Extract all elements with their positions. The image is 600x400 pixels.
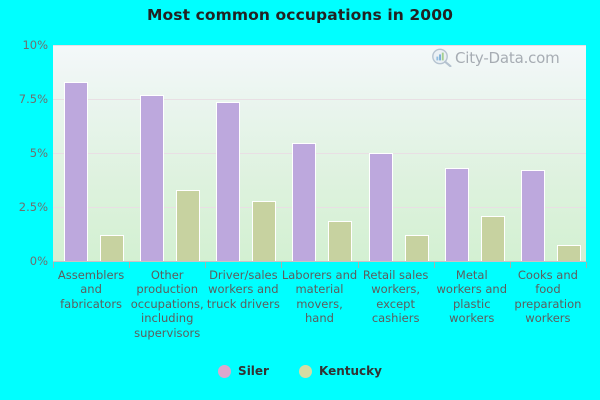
chart-title: Most common occupations in 2000 bbox=[0, 6, 600, 24]
bar-group bbox=[281, 45, 357, 261]
legend-label-kentucky: Kentucky bbox=[319, 364, 382, 378]
bar-group bbox=[53, 45, 129, 261]
legend-label-siler: Siler bbox=[238, 364, 269, 378]
bar-kentucky-5[interactable] bbox=[405, 235, 429, 261]
legend-swatch-siler bbox=[218, 365, 231, 378]
y-tick-label: 10% bbox=[1, 38, 48, 52]
x-axis-label: Driver/sales workers and truck drivers bbox=[205, 268, 281, 311]
x-axis-label: Laborers and material movers, hand bbox=[281, 268, 357, 326]
legend-item-siler[interactable]: Siler bbox=[218, 364, 269, 378]
y-tick-label: 2.5% bbox=[1, 200, 48, 214]
y-tick-label: 7.5% bbox=[1, 92, 48, 106]
bar-group bbox=[510, 45, 586, 261]
bar-kentucky-7[interactable] bbox=[557, 245, 581, 261]
bar-group bbox=[358, 45, 434, 261]
bar-kentucky-6[interactable] bbox=[481, 216, 505, 261]
y-axis: 0%2.5%5%7.5%10% bbox=[0, 0, 48, 400]
bar-siler-1[interactable] bbox=[64, 82, 88, 261]
bar-kentucky-3[interactable] bbox=[252, 201, 276, 261]
bar-kentucky-1[interactable] bbox=[100, 235, 124, 261]
bar-kentucky-2[interactable] bbox=[176, 190, 200, 261]
x-axis-label: Retail sales workers, except cashiers bbox=[358, 268, 434, 326]
bar-siler-2[interactable] bbox=[140, 95, 164, 261]
bar-siler-3[interactable] bbox=[216, 102, 240, 261]
x-axis-line bbox=[53, 261, 586, 262]
x-axis-label: Metal workers and plastic workers bbox=[434, 268, 510, 326]
x-axis-label: Other production occupations, including … bbox=[129, 268, 205, 340]
bar-siler-6[interactable] bbox=[445, 168, 469, 261]
y-tick-label: 0% bbox=[1, 254, 48, 268]
x-axis-label: Assemblers and fabricators bbox=[53, 268, 129, 311]
bar-kentucky-4[interactable] bbox=[328, 221, 352, 261]
legend-item-kentucky[interactable]: Kentucky bbox=[299, 364, 382, 378]
chart-legend: Siler Kentucky bbox=[0, 364, 600, 378]
x-tick bbox=[586, 262, 587, 268]
bar-siler-5[interactable] bbox=[369, 153, 393, 261]
bar-group bbox=[434, 45, 510, 261]
bar-chart: Most common occupations in 2000 0%2.5%5%… bbox=[0, 0, 600, 400]
bar-siler-7[interactable] bbox=[521, 170, 545, 261]
bar-group bbox=[129, 45, 205, 261]
x-axis-label: Cooks and food preparation workers bbox=[510, 268, 586, 326]
legend-swatch-kentucky bbox=[299, 365, 312, 378]
bar-siler-4[interactable] bbox=[292, 143, 316, 261]
bar-group bbox=[205, 45, 281, 261]
y-tick-label: 5% bbox=[1, 146, 48, 160]
